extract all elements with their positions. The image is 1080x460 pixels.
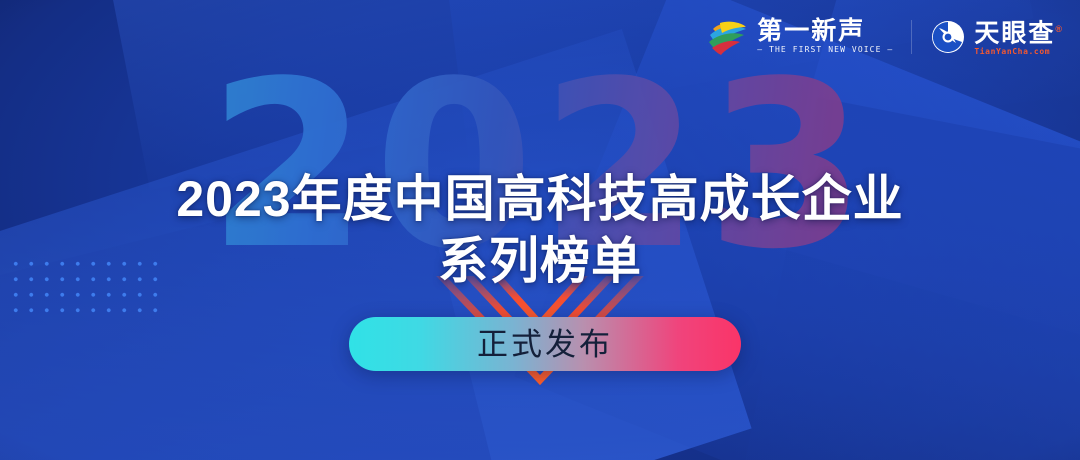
logo-divider [911,20,912,54]
tianyancha-registered-mark: ® [1055,24,1064,34]
release-status-pill[interactable]: 正式发布 [349,317,741,371]
logo-bar: 第一新声 — THE FIRST NEW VOICE — 天眼查® TianYa… [707,16,1064,57]
first-new-voice-swirl-icon [707,18,749,56]
promo-banner: 2023 2023年度中国高科技高成长企业 系列榜单 正式发布 [0,0,1080,460]
first-new-voice-en: — THE FIRST NEW VOICE — [757,44,893,55]
tianyancha-lens-icon [930,19,966,55]
release-status-label: 正式发布 [477,329,613,360]
tianyancha-cn: 天眼查® [974,16,1064,46]
first-new-voice-cn: 第一新声 [757,18,893,44]
first-new-voice-text: 第一新声 — THE FIRST NEW VOICE — [757,18,893,55]
headline-line-2: 系列榜单 [0,230,1080,292]
headline-line-1: 2023年度中国高科技高成长企业 [176,171,903,227]
tianyancha-cn-label: 天眼查 [974,19,1055,47]
tianyancha-en: TianYanCha.com [974,46,1064,57]
tianyancha-text: 天眼查® TianYanCha.com [974,16,1064,57]
logo-first-new-voice[interactable]: 第一新声 — THE FIRST NEW VOICE — [707,18,893,56]
logo-tianyancha[interactable]: 天眼查® TianYanCha.com [930,16,1064,57]
page-title: 2023年度中国高科技高成长企业 系列榜单 [0,168,1080,292]
